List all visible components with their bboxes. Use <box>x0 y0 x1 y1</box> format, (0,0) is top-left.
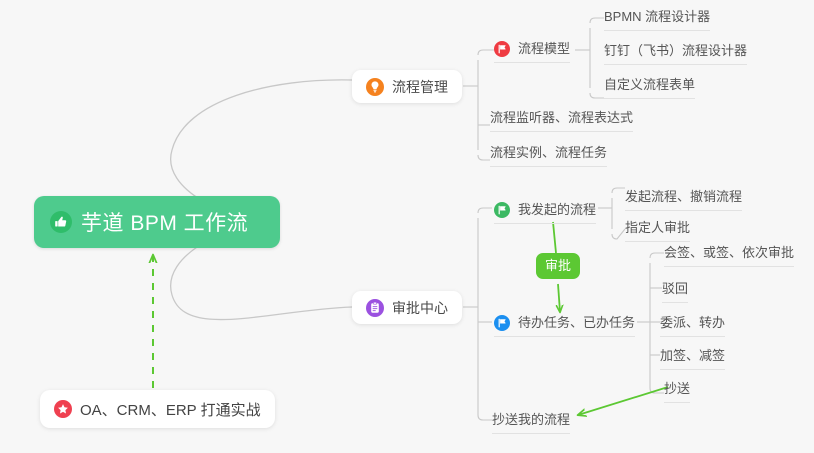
leaf-label: 抄送 <box>664 381 690 397</box>
leaf-label: 指定人审批 <box>625 220 690 236</box>
leaf-label: 发起流程、撤销流程 <box>625 189 742 205</box>
leaf-instance-task[interactable]: 流程实例、流程任务 <box>490 145 607 167</box>
arrow-approve-lower <box>558 284 560 312</box>
leaf-assign-approver[interactable]: 指定人审批 <box>625 220 690 242</box>
leaf-label: 流程实例、流程任务 <box>490 145 607 161</box>
bottom-node-integration[interactable]: OA、CRM、ERP 打通实战 <box>40 390 275 428</box>
leaf-dingtalk-designer[interactable]: 钉钉（飞书）流程设计器 <box>604 43 747 65</box>
leaf-bpmn-designer[interactable]: BPMN 流程设计器 <box>604 9 710 31</box>
edge-to-start-cancel <box>612 188 625 193</box>
edge-to-assign-approver <box>612 229 625 239</box>
edge-to-flow-model <box>478 50 494 55</box>
leaf-listener-expression[interactable]: 流程监听器、流程表达式 <box>490 110 633 132</box>
leaf-todo-done-tasks[interactable]: 待办任务、已办任务 <box>494 315 635 337</box>
leaf-my-initiated-flow[interactable]: 我发起的流程 <box>494 202 596 224</box>
branch-node-flow-management[interactable]: 流程管理 <box>352 70 462 103</box>
leaf-reject[interactable]: 驳回 <box>662 281 688 303</box>
annotation-chip-approve[interactable]: 审批 <box>536 253 580 279</box>
bottom-node-label: OA、CRM、ERP 打通实战 <box>80 399 261 420</box>
leaf-label: 抄送我的流程 <box>492 412 570 428</box>
edge-to-custom-form <box>590 93 604 98</box>
leaf-start-cancel-flow[interactable]: 发起流程、撤销流程 <box>625 189 742 211</box>
leaf-label: 委派、转办 <box>660 315 725 331</box>
arrow-approve-upper <box>553 222 556 253</box>
leaf-label: 待办任务、已办任务 <box>518 315 635 331</box>
leaf-label: 钉钉（飞书）流程设计器 <box>604 43 747 59</box>
leaf-label: 流程模型 <box>518 41 570 57</box>
edge-to-cc-to-me <box>478 415 492 420</box>
flag-icon <box>494 315 510 331</box>
chip-label: 审批 <box>545 258 571 273</box>
leaf-label: 加签、减签 <box>660 348 725 364</box>
branch-label-flow-management: 流程管理 <box>392 77 448 97</box>
edge-to-cc <box>650 388 664 393</box>
clipboard-icon <box>366 299 384 317</box>
star-icon <box>54 400 72 418</box>
edge-to-bpmn-designer <box>590 18 604 23</box>
flag-icon <box>494 202 510 218</box>
leaf-label: 我发起的流程 <box>518 202 596 218</box>
leaf-add-remove-sign[interactable]: 加签、减签 <box>660 348 725 370</box>
branch-node-approval-center[interactable]: 审批中心 <box>352 291 462 324</box>
thumbs-up-icon <box>50 211 72 233</box>
root-node[interactable]: 芋道 BPM 工作流 <box>34 196 280 248</box>
leaf-label: BPMN 流程设计器 <box>604 9 710 25</box>
leaf-delegate-transfer[interactable]: 委派、转办 <box>660 315 725 337</box>
leaf-label: 流程监听器、流程表达式 <box>490 110 633 126</box>
leaf-label: 驳回 <box>662 281 688 297</box>
mindmap-canvas: 芋道 BPM 工作流 流程管理 审批中心 <box>0 0 814 453</box>
branch-label-approval-center: 审批中心 <box>392 298 448 318</box>
edge-to-countersign <box>650 253 664 258</box>
leaf-label: 自定义流程表单 <box>604 77 695 93</box>
lightbulb-icon <box>366 78 384 96</box>
edge-to-instance <box>478 155 490 160</box>
leaf-countersign[interactable]: 会签、或签、依次审批 <box>664 245 794 267</box>
root-label: 芋道 BPM 工作流 <box>81 207 248 237</box>
leaf-flow-model[interactable]: 流程模型 <box>494 41 570 63</box>
flag-icon <box>494 41 510 57</box>
leaf-custom-form[interactable]: 自定义流程表单 <box>604 77 695 99</box>
leaf-cc[interactable]: 抄送 <box>664 381 690 403</box>
edge-to-my-initiated <box>478 208 492 213</box>
arrow-cc-to-my-cc <box>578 387 668 415</box>
leaf-label: 会签、或签、依次审批 <box>664 245 794 261</box>
leaf-cc-to-me[interactable]: 抄送我的流程 <box>492 412 570 434</box>
